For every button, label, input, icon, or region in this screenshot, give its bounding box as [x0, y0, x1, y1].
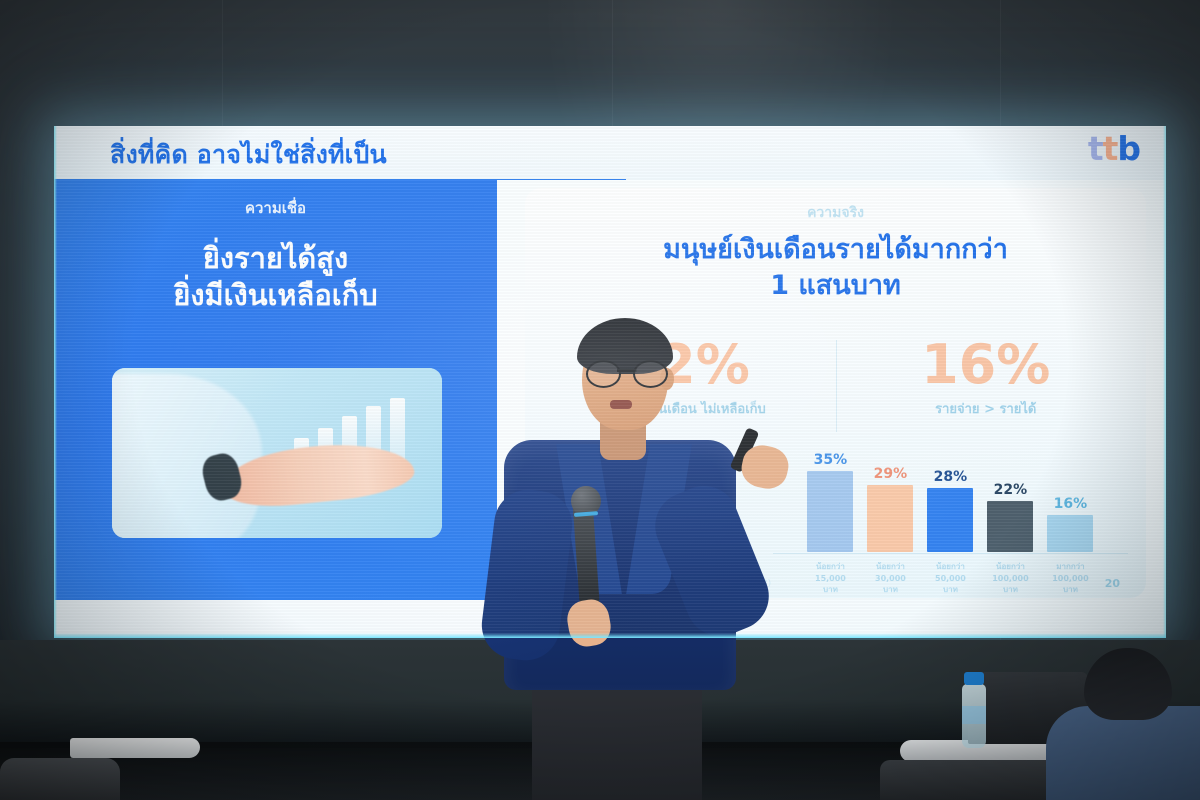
logo-letter-b: b	[1117, 129, 1140, 168]
screen-edge-bottom	[54, 633, 1166, 638]
stat-caption: รายจ่าย > รายได้	[836, 398, 1137, 419]
glasses-icon	[586, 360, 668, 384]
bar	[867, 485, 913, 552]
table-left	[70, 738, 200, 758]
belief-heading-line2: ยิ่งมีเงินเหลือเก็บ	[54, 277, 497, 314]
audience-member	[1040, 648, 1200, 800]
logo-letter-t1: t	[1088, 129, 1103, 168]
chair-right	[880, 760, 1060, 800]
logo-letter-t2: t	[1103, 129, 1118, 168]
bar	[1047, 515, 1093, 552]
audience-head	[1084, 648, 1172, 720]
belief-photo	[112, 368, 442, 538]
belief-panel: ความเชื่อ ยิ่งรายได้สูง ยิ่งมีเงินเหลือเ…	[54, 180, 497, 600]
bar-value-label: 22%	[994, 482, 1028, 498]
screen-edge-right	[1163, 126, 1166, 638]
category-label: น้อยกว่า 50,000 บาท	[927, 561, 973, 596]
chair-left	[0, 758, 120, 800]
bar-item: 22%	[987, 482, 1033, 552]
belief-heading: ยิ่งรายได้สูง ยิ่งมีเงินเหลือเก็บ	[54, 240, 497, 314]
slide-title: สิ่งที่คิด อาจไม่ใช่สิ่งที่เป็น	[110, 135, 387, 175]
bar-item: 29%	[867, 466, 913, 552]
belief-heading-line1: ยิ่งรายได้สูง	[54, 240, 497, 277]
bar	[927, 488, 973, 552]
bar-value-label: 28%	[934, 469, 968, 485]
bottle-cap	[964, 672, 984, 685]
belief-label: ความเชื่อ	[54, 196, 497, 220]
category-label: น้อยกว่า 100,000 บาท	[987, 561, 1033, 596]
stat-block: 16% รายจ่าย > รายได้	[836, 338, 1137, 434]
reality-heading-line1: มนุษย์เงินเดือนรายได้มากกว่า	[525, 232, 1146, 268]
bar-value-label: 29%	[874, 466, 908, 482]
category-label: มากกว่า 100,000 บาท	[1047, 561, 1093, 596]
page-number: 20	[1105, 577, 1120, 590]
category-label: น้อยกว่า 30,000 บาท	[867, 561, 913, 596]
reality-label: ความจริง	[525, 202, 1146, 224]
ttb-logo: ttb	[1088, 132, 1140, 165]
reality-heading: มนุษย์เงินเดือนรายได้มากกว่า 1 แสนบาท	[525, 232, 1146, 304]
bar-item: 16%	[1047, 496, 1093, 552]
speaker-mouth	[610, 400, 632, 409]
stat-value: 16%	[836, 338, 1137, 392]
screenshot-root: สิ่งที่คิด อาจไม่ใช่สิ่งที่เป็น ttb ความ…	[0, 0, 1200, 800]
bar	[987, 501, 1033, 552]
bar-item: 28%	[927, 469, 973, 552]
bar-value-label: 16%	[1054, 496, 1088, 512]
speaker	[470, 300, 840, 800]
reality-heading-line2: 1 แสนบาท	[525, 268, 1146, 304]
bottle-label	[962, 706, 986, 724]
audience-body	[1046, 706, 1200, 800]
screen-edge-left	[54, 126, 57, 638]
